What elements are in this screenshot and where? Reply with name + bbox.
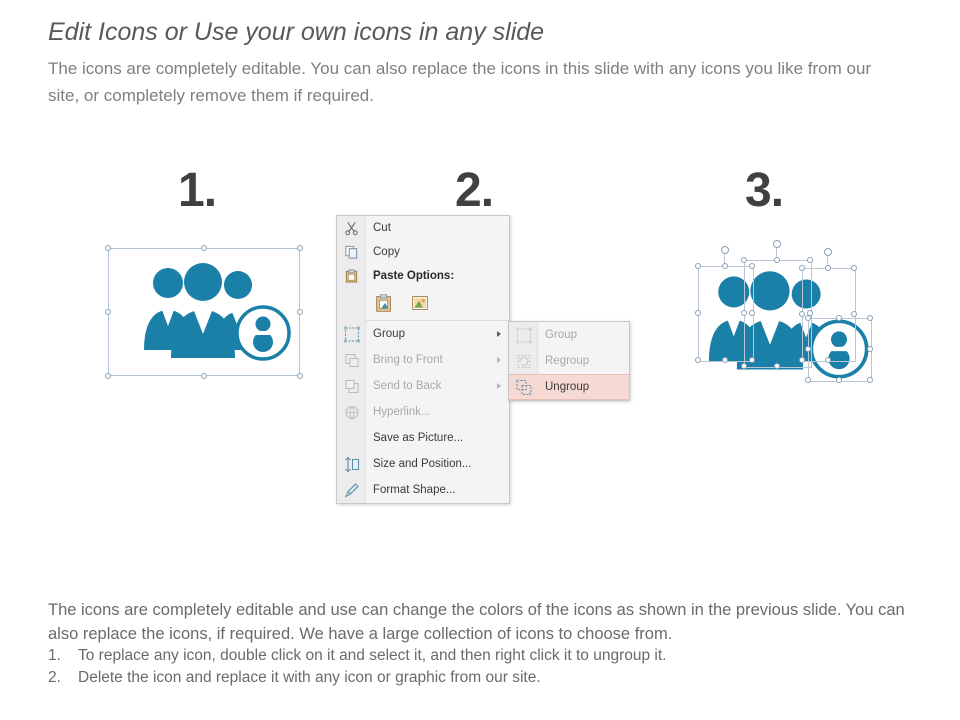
sub-handle-6[interactable] (695, 357, 701, 363)
list-item-number: 1. (48, 645, 68, 667)
group-icon (515, 327, 532, 344)
context-menu-item-copy[interactable]: Copy (337, 240, 509, 264)
resize-handle-sw[interactable] (105, 373, 111, 379)
resize-handle-se[interactable] (297, 373, 303, 379)
size-position-icon (343, 456, 360, 473)
resize-handle-ne[interactable] (297, 245, 303, 251)
context-menu-item-send-to-back: Send to Back (337, 373, 509, 399)
paste-keep-source-formatting-icon[interactable] (373, 292, 395, 317)
bring-to-front-icon (343, 352, 360, 369)
context-menu-item-hyperlink: Hyperlink... (337, 399, 509, 425)
page-subtitle: The icons are completely editable. You c… (48, 55, 878, 109)
sub-handle-21[interactable] (799, 357, 805, 363)
context-menu-item-format-shape[interactable]: Format Shape... (337, 477, 509, 503)
badge-handle-nw[interactable] (805, 315, 811, 321)
regroup-icon (515, 353, 532, 370)
ungroup-icon (515, 379, 532, 396)
footer-paragraph: The icons are completely editable and us… (48, 598, 938, 646)
list-item: 1. To replace any icon, double click on … (48, 645, 908, 667)
sub-handle-19[interactable] (799, 311, 805, 317)
context-menu-label: Send to Back (373, 380, 441, 392)
icon-selection-stage-3[interactable] (686, 250, 884, 390)
sub-handle-22[interactable] (825, 357, 831, 363)
sub-handle-18[interactable] (851, 265, 857, 271)
badge-handle-n[interactable] (836, 315, 842, 321)
paste-picture-icon[interactable] (409, 292, 431, 317)
step-number-2: 2. (455, 163, 493, 218)
scissors-icon (343, 220, 360, 237)
paste-icon (343, 268, 360, 285)
context-menu-item-save-as-picture[interactable]: Save as Picture... (337, 425, 509, 451)
resize-handle-s[interactable] (201, 373, 207, 379)
submenu-item-ungroup[interactable]: Ungroup (509, 374, 629, 400)
context-menu-label: Cut (373, 222, 391, 234)
context-menu-label: Group (373, 328, 405, 340)
group-icon (343, 326, 360, 343)
context-menu[interactable]: Cut Copy Paste Options: (336, 215, 510, 504)
context-menu-label: Copy (373, 246, 400, 258)
context-menu-label: Bring to Front (373, 354, 443, 366)
sub-handle-12[interactable] (741, 310, 747, 316)
badge-handle-sw[interactable] (805, 377, 811, 383)
context-menu-label: Format Shape... (373, 484, 455, 496)
sub-handle-7[interactable] (722, 357, 728, 363)
chevron-right-icon (497, 331, 501, 337)
sub-handle-1[interactable] (695, 263, 701, 269)
badge-handle-w[interactable] (805, 346, 811, 352)
format-shape-icon (343, 482, 360, 499)
sub-handle-11[interactable] (807, 257, 813, 263)
resize-handle-w[interactable] (105, 309, 111, 315)
context-menu-item-size-and-position[interactable]: Size and Position... (337, 451, 509, 477)
sub-handle-8[interactable] (749, 357, 755, 363)
context-menu-label: Hyperlink... (373, 406, 431, 418)
sub-handle-14[interactable] (741, 363, 747, 369)
context-menu-item-bring-to-front: Bring to Front (337, 347, 509, 373)
submenu-label: Group (545, 329, 577, 341)
group-badge-icon (232, 302, 294, 364)
submenu-label: Regroup (545, 355, 589, 367)
chevron-right-icon (497, 357, 501, 363)
send-to-back-icon (343, 378, 360, 395)
submenu-item-group: Group (509, 322, 629, 348)
context-menu-label: Paste Options: (373, 270, 454, 282)
list-item-text: To replace any icon, double click on it … (78, 645, 666, 667)
sub-handle-5[interactable] (749, 310, 755, 316)
sub-handle-20[interactable] (851, 311, 857, 317)
sub-handle-16[interactable] (799, 265, 805, 271)
sub-handle-2[interactable] (722, 263, 728, 269)
resize-handle-e[interactable] (297, 309, 303, 315)
badge-handle-e[interactable] (867, 346, 873, 352)
paste-options-row[interactable] (337, 288, 509, 320)
sub-handle-15[interactable] (774, 363, 780, 369)
badge-handle-ne[interactable] (867, 315, 873, 321)
chevron-right-icon (497, 383, 501, 389)
context-menu-label: Size and Position... (373, 458, 471, 470)
resize-handle-n[interactable] (201, 245, 207, 251)
sub-handle-9[interactable] (741, 257, 747, 263)
rotate-handle-center-person[interactable] (773, 240, 781, 248)
step-number-1: 1. (178, 163, 216, 218)
sub-handle-3[interactable] (749, 263, 755, 269)
submenu-item-regroup: Regroup (509, 348, 629, 374)
page-title: Edit Icons or Use your own icons in any … (48, 18, 544, 47)
context-menu-item-group[interactable]: Group (337, 321, 509, 347)
badge-handle-s[interactable] (836, 377, 842, 383)
context-menu-item-cut[interactable]: Cut (337, 216, 509, 240)
step-number-3: 3. (745, 163, 783, 218)
list-item-number: 2. (48, 667, 68, 689)
sub-selection-frame-badge (808, 318, 872, 382)
submenu-label: Ungroup (545, 381, 589, 393)
rotate-handle-left-person[interactable] (721, 246, 729, 254)
list-item-text: Delete the icon and replace it with any … (78, 667, 541, 689)
sub-handle-10[interactable] (774, 257, 780, 263)
resize-handle-nw[interactable] (105, 245, 111, 251)
sub-handle-17[interactable] (825, 265, 831, 271)
footer-list: 1. To replace any icon, double click on … (48, 645, 908, 689)
rotate-handle-right-person[interactable] (824, 248, 832, 256)
group-submenu[interactable]: Group Regroup Ungroup (508, 321, 630, 401)
badge-handle-se[interactable] (867, 377, 873, 383)
copy-icon (343, 244, 360, 261)
context-menu-label: Save as Picture... (373, 432, 463, 444)
hyperlink-icon (343, 404, 360, 421)
list-item: 2. Delete the icon and replace it with a… (48, 667, 908, 689)
sub-handle-4[interactable] (695, 310, 701, 316)
context-menu-item-paste-options: Paste Options: (337, 264, 509, 288)
icon-selection-stage-1[interactable] (108, 248, 300, 376)
